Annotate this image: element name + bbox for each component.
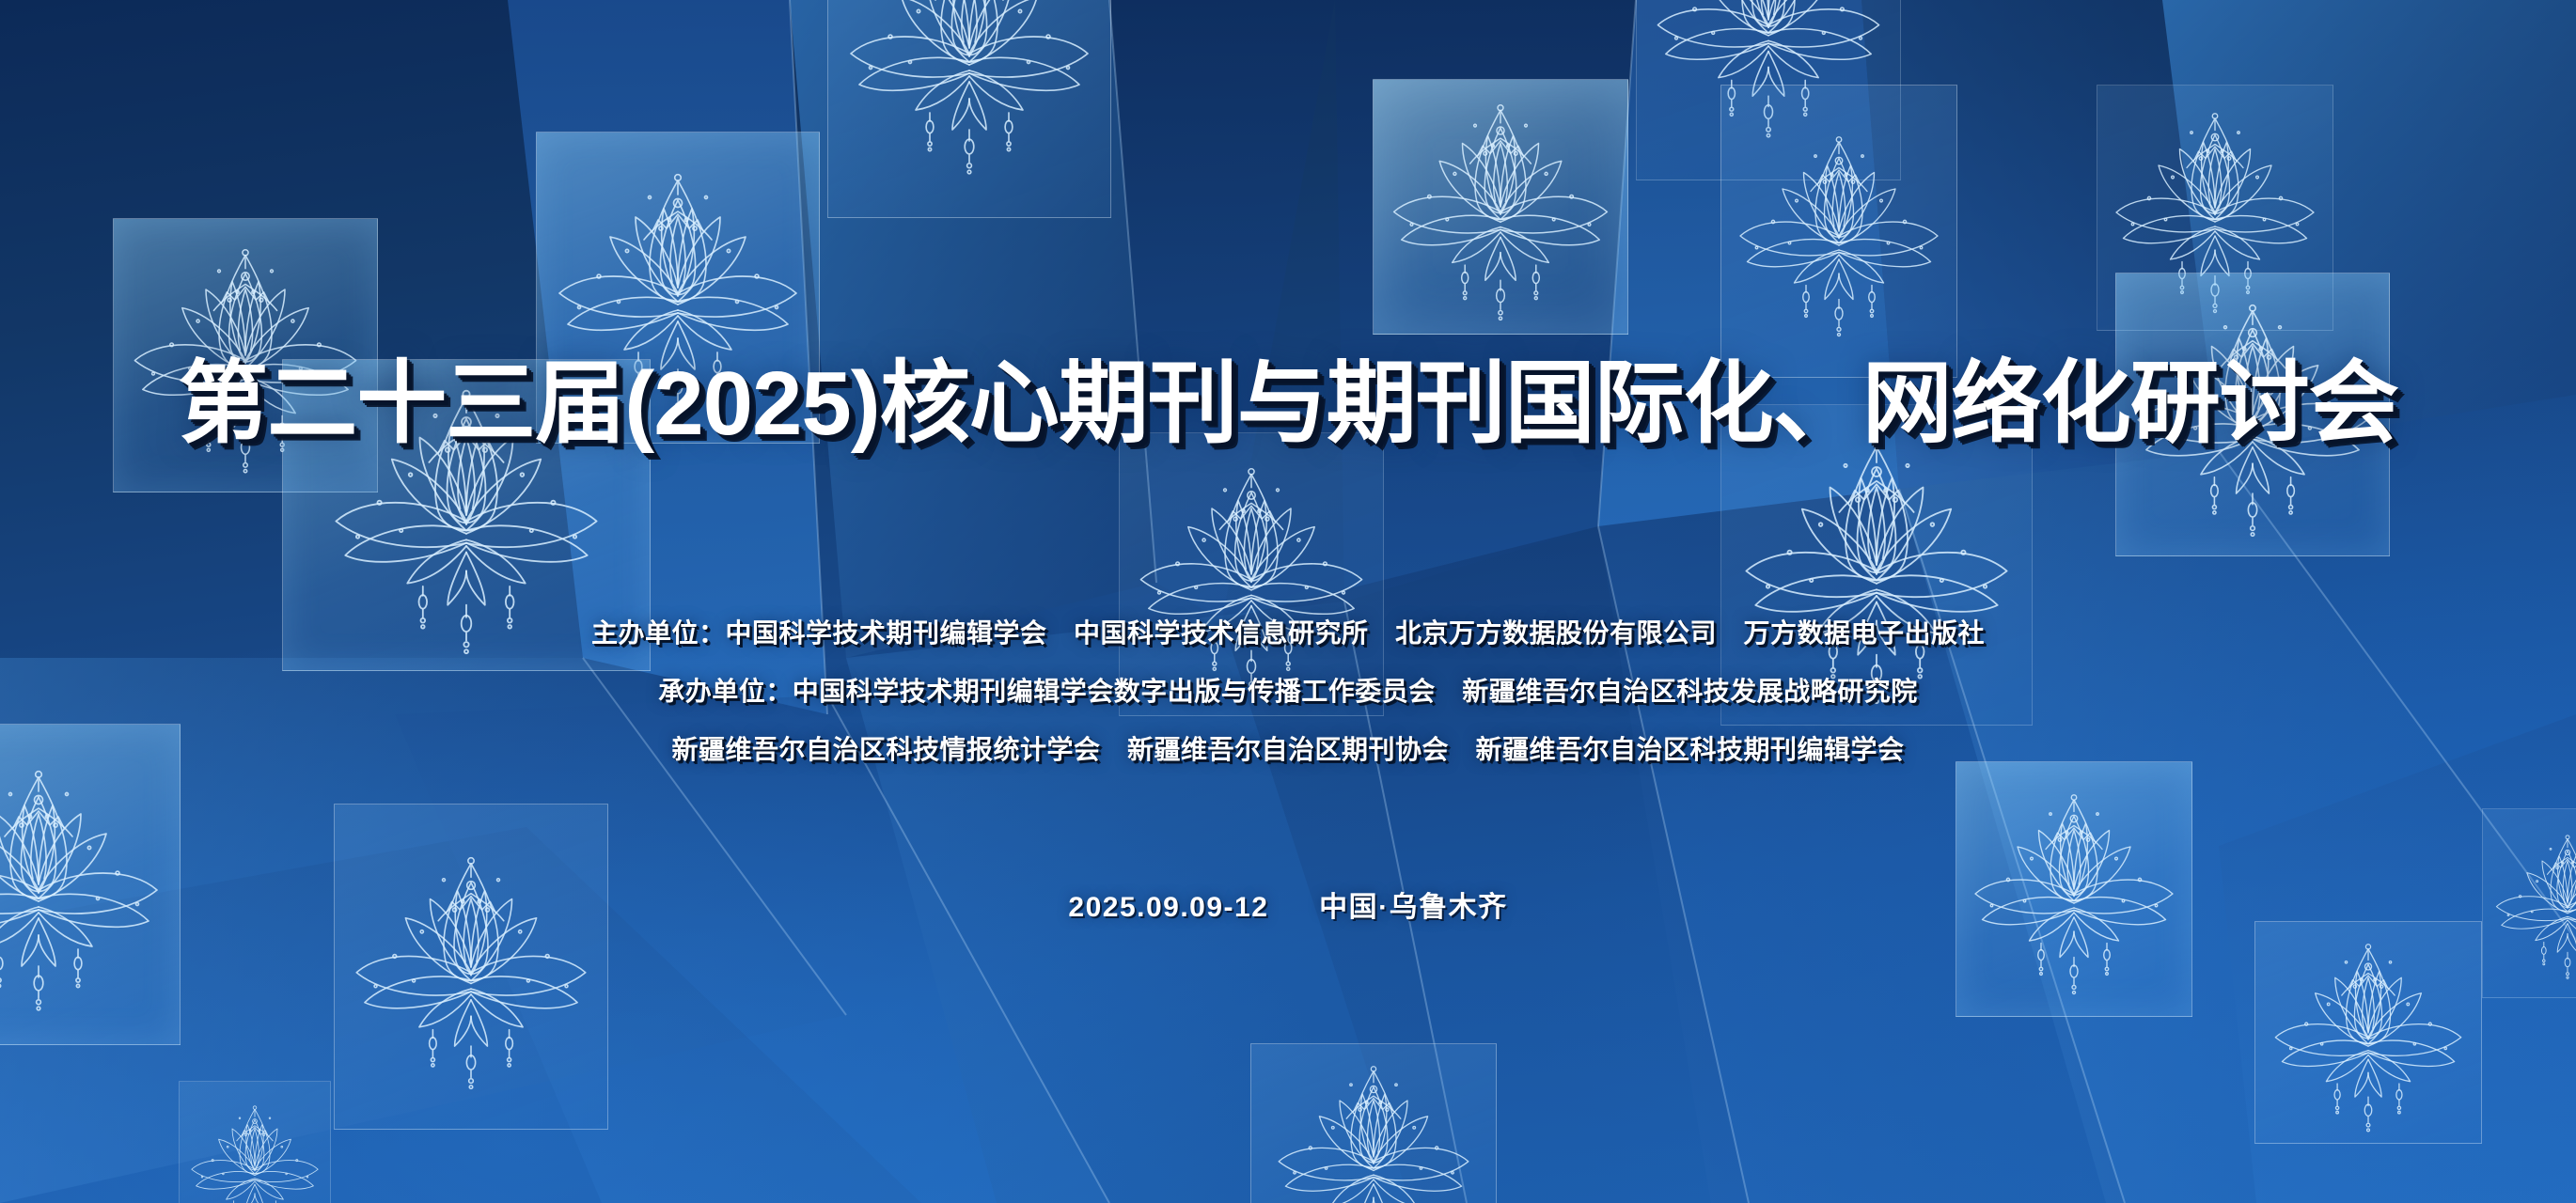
organizer-line-undertaker-1: 承办单位：中国科学技术期刊编辑学会数字出版与传播工作委员会 新疆维吾尔自治区科技… [0,679,2576,705]
organizer-line-undertaker-2: 新疆维吾尔自治区科技情报统计学会 新疆维吾尔自治区期刊协会 新疆维吾尔自治区科技… [0,737,2576,763]
event-location: 中国·乌鲁木齐 [1319,892,1508,923]
organizer-line-host: 主办单位：中国科学技术期刊编辑学会 中国科学技术信息研究所 北京万方数据股份有限… [0,620,2576,647]
organizers-block: 主办单位：中国科学技术期刊编辑学会 中国科学技术信息研究所 北京万方数据股份有限… [0,620,2576,763]
conference-banner: 第二十三届(2025)核心期刊与期刊国际化、网络化研讨会 主办单位：中国科学技术… [0,0,2576,1203]
poster-content: 第二十三届(2025)核心期刊与期刊国际化、网络化研讨会 主办单位：中国科学技术… [0,0,2576,1203]
event-date: 2025.09.09-12 [1068,892,1268,923]
page-title: 第二十三届(2025)核心期刊与期刊国际化、网络化研讨会 [0,359,2576,449]
date-location-bar: 2025.09.09-12 中国·乌鲁木齐 [0,883,2576,925]
